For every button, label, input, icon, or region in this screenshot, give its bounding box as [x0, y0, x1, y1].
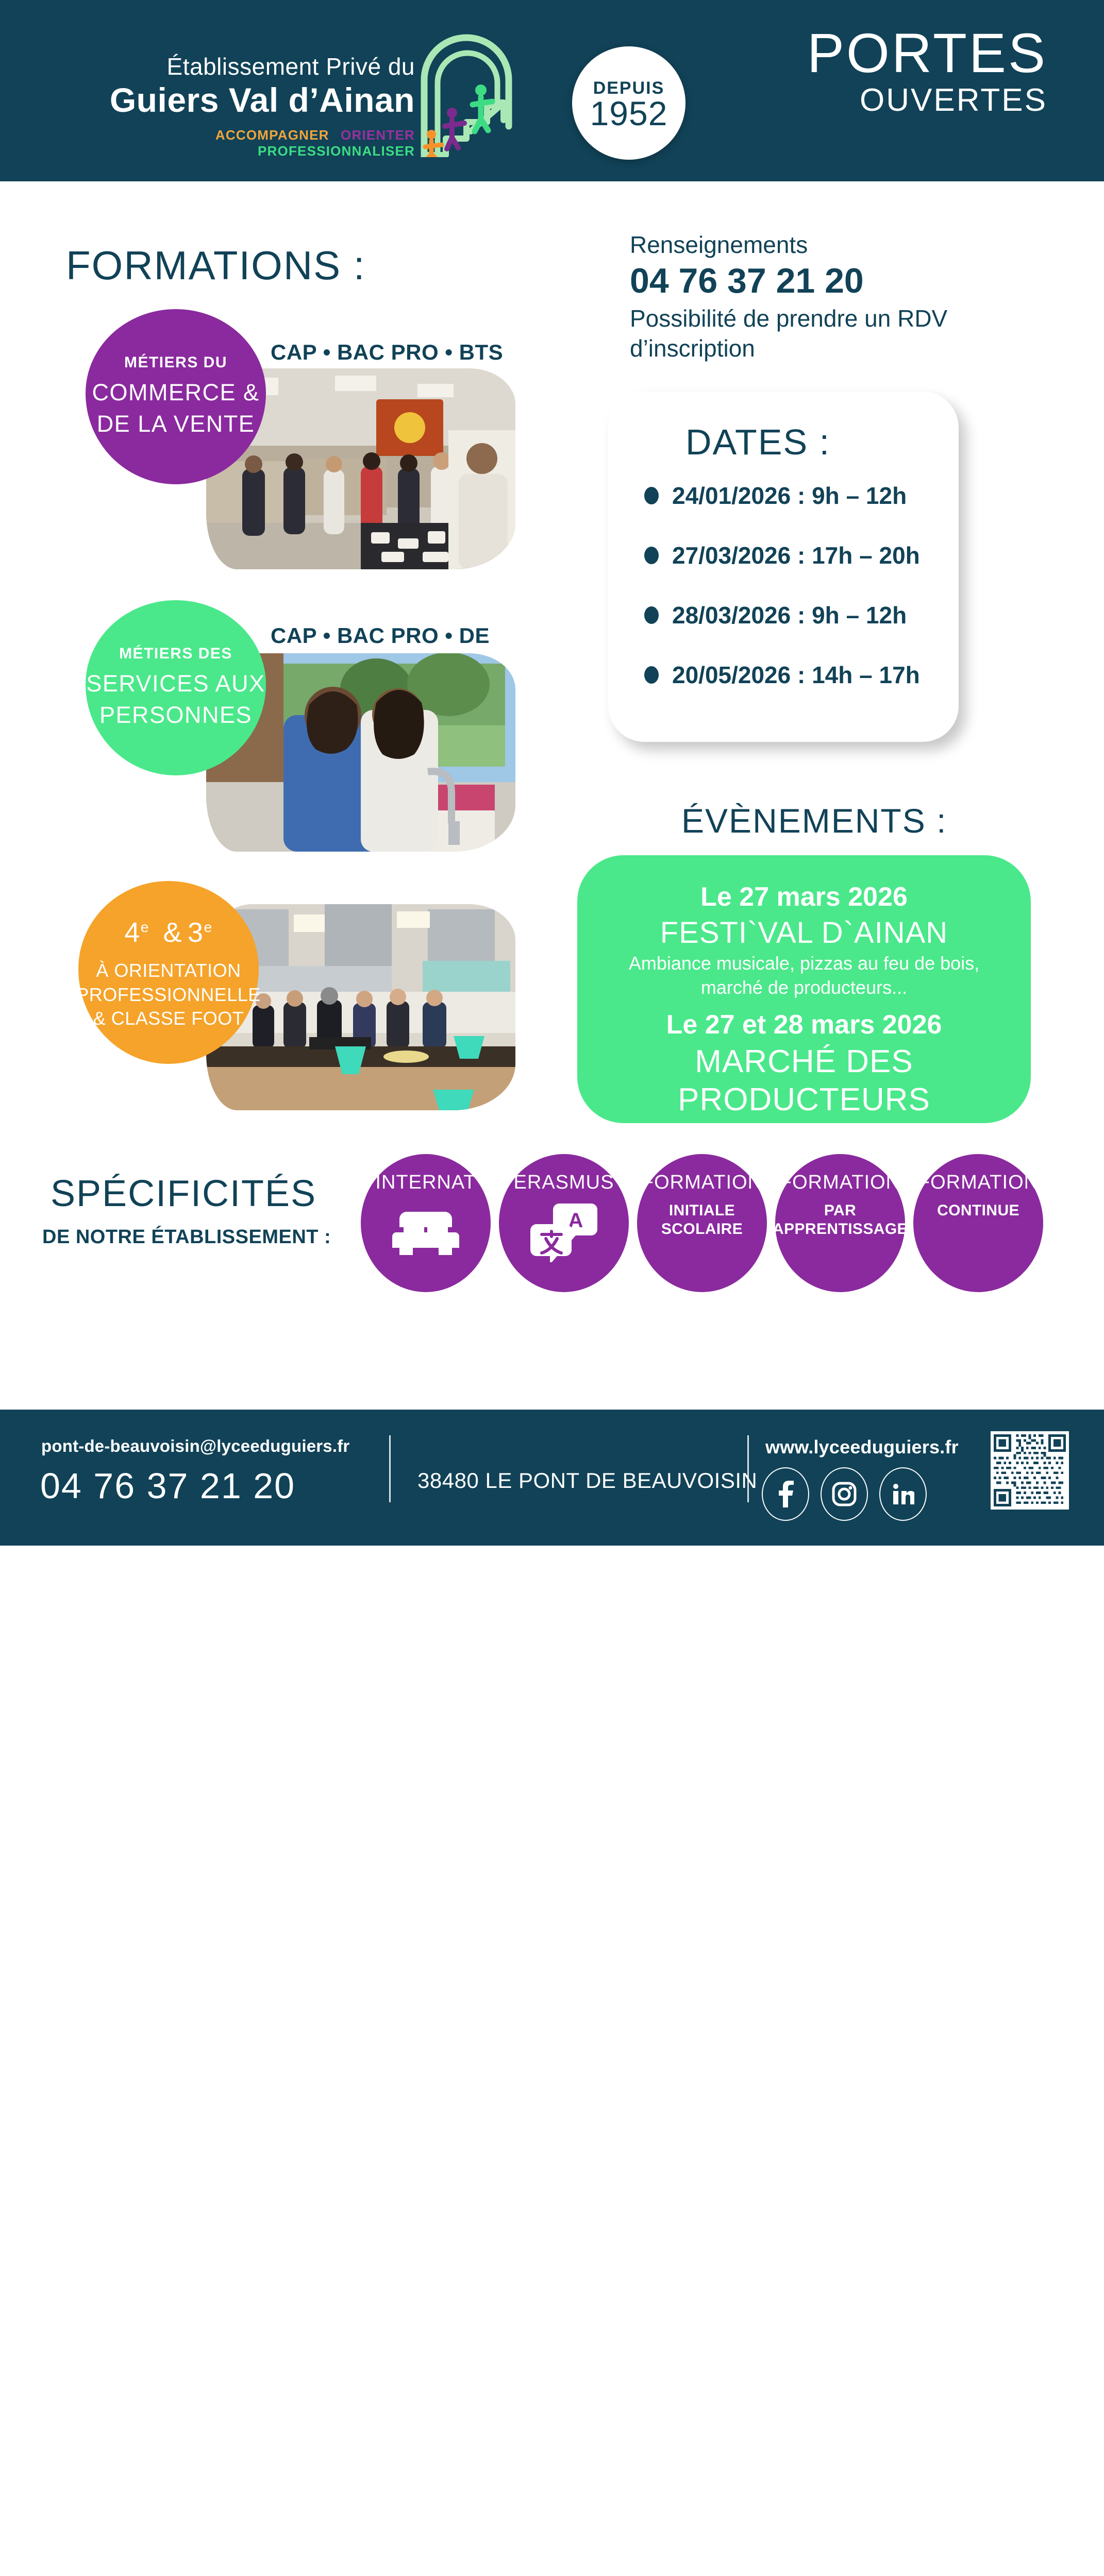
spec-sub-line1: INITIALE: [661, 1201, 743, 1221]
date-row: 20/05/2026 : 14h – 17h: [644, 661, 954, 689]
spec-circle-internat[interactable]: INTERNAT: [361, 1154, 491, 1292]
formation-name-line1: COMMERCE &: [92, 377, 259, 409]
grade-amp: &: [163, 917, 182, 948]
instagram-icon[interactable]: [821, 1467, 868, 1521]
evenement-item: Le 27 mars 2026 FESTI`VAL D`AINAN Ambian…: [577, 882, 1031, 999]
logo-line-2: Guiers Val d’Ainan: [106, 81, 415, 120]
spec-title: FORMATION: [642, 1173, 762, 1193]
renseignements-label: Renseignements: [630, 231, 1073, 259]
grade-4-sup: e: [141, 919, 149, 935]
footer-website[interactable]: www.lyceeduguiers.fr: [765, 1436, 959, 1458]
spec-sub-line2: SCOLAIRE: [661, 1220, 743, 1239]
formation-name-line2: DE LA VENTE: [92, 409, 259, 440]
page-title: PORTES OUVERTES: [807, 27, 1047, 118]
renseignements-sub-line1: Possibilité de prendre un RDV: [630, 304, 1073, 333]
since-year: 1952: [590, 96, 668, 130]
evenement-desc-line2: marché de producteurs...: [577, 976, 1031, 999]
spec-title: INTERNAT: [375, 1173, 476, 1193]
formation-name-line2: PERSONNES: [86, 700, 265, 731]
footer-address: 38480 LE PONT DE BEAUVOISIN: [417, 1468, 757, 1493]
specificites-row: INTERNAT ERASMUS A: [361, 1154, 1043, 1292]
bullet-icon: [644, 666, 659, 684]
formation-name-line3: & CLASSE FOOT: [76, 1007, 261, 1031]
title-portes: PORTES: [807, 27, 1047, 80]
specificites-subheading: DE NOTRE ÉTABLISSEMENT :: [42, 1226, 331, 1248]
formations-heading: FORMATIONS :: [66, 242, 366, 289]
footer-divider: [747, 1435, 749, 1502]
footer-phone[interactable]: 04 76 37 21 20: [40, 1465, 295, 1506]
date-text: 20/05/2026 : 14h – 17h: [672, 661, 920, 689]
formation-bubble-services: MÉTIERS DES SERVICES AUX PERSONNES: [86, 600, 266, 775]
grade-3-sup: e: [204, 919, 213, 935]
tagline-professionnaliser: PROFESSIONNALISER: [258, 143, 415, 159]
evenements-card: Le 27 mars 2026 FESTI`VAL D`AINAN Ambian…: [577, 855, 1031, 1123]
dates-list: 24/01/2026 : 9h – 12h 27/03/2026 : 17h –…: [644, 482, 954, 721]
bullet-icon: [644, 547, 659, 564]
spec-title: FORMATION: [780, 1173, 900, 1193]
page-footer: pont-de-beauvoisin@lyceeduguiers.fr 04 7…: [0, 1410, 1104, 1546]
title-ouvertes: OUVERTES: [807, 83, 1047, 118]
spec-title: ERASMUS: [514, 1173, 614, 1193]
formation-kicker-commerce: MÉTIERS DU: [124, 353, 227, 372]
date-row: 24/01/2026 : 9h – 12h: [644, 482, 954, 510]
spec-circle-formation-initiale[interactable]: FORMATION INITIALE SCOLAIRE: [637, 1154, 767, 1292]
footer-email[interactable]: pont-de-beauvoisin@lyceeduguiers.fr: [41, 1436, 349, 1456]
school-logo: Établissement Privé du Guiers Val d’Aina…: [106, 54, 415, 159]
spec-sub-line2: APPRENTISSAGE: [773, 1220, 908, 1239]
translate-bubbles-icon: A: [530, 1201, 597, 1265]
poster-root: Établissement Privé du Guiers Val d’Aina…: [0, 0, 1104, 1546]
formation-name-line1: À ORIENTATION: [76, 959, 261, 983]
tagline-orienter: ORIENTER: [341, 127, 415, 143]
formation-kicker-services: MÉTIERS DES: [119, 645, 232, 663]
dates-title: DATES :: [685, 421, 830, 463]
spec-circle-formation-continue[interactable]: FORMATION CONTINUE: [913, 1154, 1043, 1292]
renseignements-block: Renseignements 04 76 37 21 20 Possibilit…: [630, 231, 1073, 363]
grade-4: 4: [124, 917, 141, 948]
evenement-date: Le 27 et 28 mars 2026: [577, 1010, 1031, 1041]
arch-people-stairs-icon: [415, 28, 518, 157]
evenement-item: Le 27 et 28 mars 2026 MARCHÉ DES PRODUCT…: [577, 1010, 1031, 1120]
logo-tagline: ACCOMPAGNER ORIENTER PROFESSIONNALISER: [106, 127, 415, 159]
spec-circle-formation-apprentissage[interactable]: FORMATION PAR APPRENTISSAGE: [775, 1154, 905, 1292]
renseignements-phone[interactable]: 04 76 37 21 20: [630, 259, 1073, 303]
qr-code[interactable]: [991, 1431, 1069, 1510]
page-header: Établissement Privé du Guiers Val d’Aina…: [0, 0, 1104, 181]
renseignements-sub-line2: d’inscription: [630, 334, 1073, 363]
bullet-icon: [644, 606, 659, 624]
formation-diplomas-services: CAP • BAC PRO • DE: [271, 623, 490, 648]
spec-sub-line1: CONTINUE: [937, 1201, 1019, 1221]
date-row: 28/03/2026 : 9h – 12h: [644, 601, 954, 629]
formation-kicker-orientation: 4e &3e: [124, 914, 212, 952]
evenement-name: FESTI`VAL D`AINAN: [577, 915, 1031, 951]
formation-name-orientation: À ORIENTATION PROFESSIONNELLE & CLASSE F…: [76, 959, 261, 1031]
footer-divider: [389, 1435, 391, 1502]
spec-title: FORMATION: [918, 1173, 1039, 1193]
date-text: 28/03/2026 : 9h – 12h: [672, 601, 907, 629]
logo-line-1: Établissement Privé du: [106, 54, 415, 79]
formation-bubble-commerce: MÉTIERS DU COMMERCE & DE LA VENTE: [86, 309, 266, 484]
evenement-name: MARCHÉ DES PRODUCTEURS: [577, 1043, 1031, 1120]
date-row: 27/03/2026 : 17h – 20h: [644, 541, 954, 569]
facebook-icon[interactable]: [762, 1467, 809, 1521]
specificites-heading: SPÉCIFICITÉS: [51, 1173, 316, 1215]
formation-bubble-orientation: 4e &3e À ORIENTATION PROFESSIONNELLE & C…: [78, 881, 259, 1064]
bullet-icon: [644, 487, 659, 504]
linkedin-icon[interactable]: [879, 1467, 927, 1521]
spec-sub: PAR APPRENTISSAGE: [773, 1201, 908, 1239]
formation-name-services: SERVICES AUX PERSONNES: [86, 668, 265, 731]
date-text: 24/01/2026 : 9h – 12h: [672, 482, 907, 510]
bed-icon: [392, 1201, 459, 1261]
spec-circle-erasmus[interactable]: ERASMUS A: [499, 1154, 629, 1292]
spec-sub: CONTINUE: [937, 1201, 1019, 1221]
grade-3: 3: [188, 917, 204, 948]
spec-sub-line1: PAR: [773, 1201, 908, 1221]
tagline-accompagner: ACCOMPAGNER: [215, 127, 329, 143]
formation-name-commerce: COMMERCE & DE LA VENTE: [92, 377, 259, 440]
footer-social-links: [762, 1467, 927, 1521]
partner-logos: Liberté • Égalité • Fraternité RÉPUBLIQU…: [0, 1329, 1104, 1396]
evenement-date: Le 27 mars 2026: [577, 882, 1031, 913]
date-text: 27/03/2026 : 17h – 20h: [672, 541, 920, 569]
formation-name-line2: PROFESSIONNELLE: [76, 983, 261, 1007]
since-label: DEPUIS: [593, 78, 665, 98]
formation-diplomas-commerce: CAP • BAC PRO • BTS: [271, 340, 503, 365]
evenements-heading: ÉVÈNEMENTS :: [681, 801, 947, 840]
formation-name-line1: SERVICES AUX: [86, 668, 265, 700]
since-badge: DEPUIS 1952: [572, 46, 685, 160]
spec-sub: INITIALE SCOLAIRE: [661, 1201, 743, 1239]
dates-card: DATES : 24/01/2026 : 9h – 12h 27/03/2026…: [608, 392, 959, 742]
evenement-desc-line1: Ambiance musicale, pizzas au feu de bois…: [577, 952, 1031, 975]
